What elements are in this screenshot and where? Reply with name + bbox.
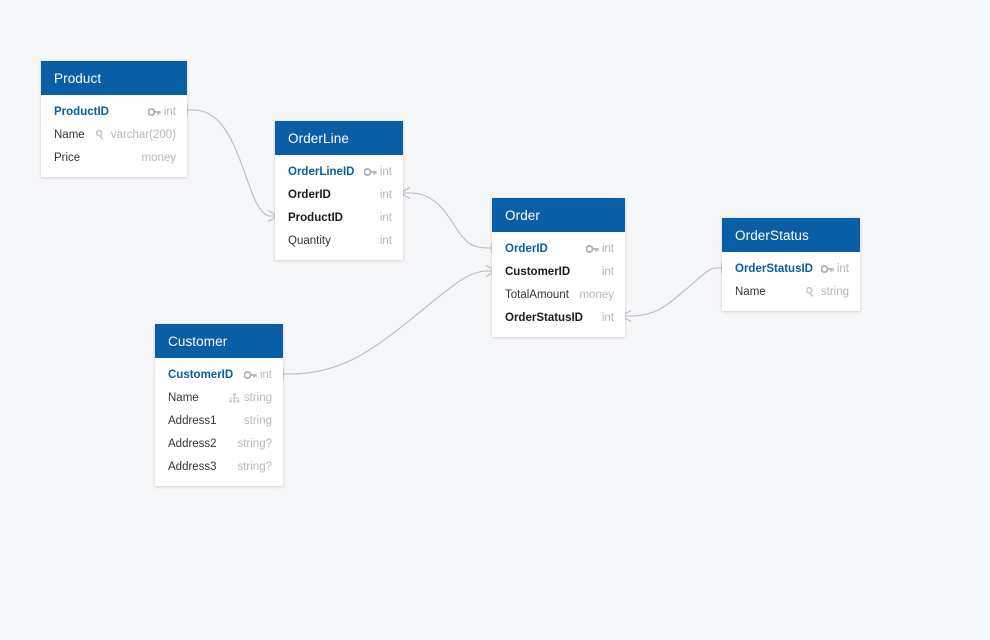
relationship-edge[interactable] [182, 105, 278, 222]
attribute-row[interactable]: Pricemoney [41, 146, 187, 169]
attribute-type: money [579, 289, 614, 301]
erd-canvas[interactable]: ProductProductIDintNamevarchar(200)Price… [0, 0, 990, 640]
index-icon [805, 286, 818, 297]
attribute-row[interactable]: Address3string? [155, 455, 283, 478]
hierarchy-icon [228, 392, 241, 403]
attribute-type: string [821, 286, 849, 298]
key-icon [586, 243, 599, 254]
attribute-row[interactable]: CustomerIDint [155, 363, 283, 386]
attribute-name: Name [735, 286, 766, 298]
attribute-row[interactable]: OrderStatusIDint [722, 257, 860, 280]
attribute-type: string? [237, 438, 272, 450]
attribute-name: Quantity [288, 235, 331, 247]
attribute-row[interactable]: OrderIDint [275, 183, 403, 206]
entity-order[interactable]: OrderOrderIDintCustomerIDintTotalAmountm… [492, 198, 625, 337]
attribute-row[interactable]: Namevarchar(200) [41, 123, 187, 146]
entity-product[interactable]: ProductProductIDintNamevarchar(200)Price… [41, 61, 187, 177]
entity-orderline[interactable]: OrderLineOrderLineIDintOrderIDintProduct… [275, 121, 403, 260]
key-icon [244, 369, 257, 380]
entity-title-orderline[interactable]: OrderLine [275, 121, 403, 155]
index-icon [95, 129, 108, 140]
key-icon [364, 166, 377, 177]
entity-title-product[interactable]: Product [41, 61, 187, 95]
attribute-row[interactable]: Namestring [155, 386, 283, 409]
entity-attributes-orderline: OrderLineIDintOrderIDintProductIDintQuan… [275, 155, 403, 260]
attribute-row[interactable]: CustomerIDint [492, 260, 625, 283]
entity-title-order[interactable]: Order [492, 198, 625, 232]
attribute-type: int [164, 106, 176, 118]
attribute-name: Address1 [168, 415, 217, 427]
entity-attributes-order: OrderIDintCustomerIDintTotalAmountmoneyO… [492, 232, 625, 337]
attribute-type: string [244, 392, 272, 404]
relationship-edge[interactable] [278, 266, 496, 380]
relationship-edge[interactable] [621, 263, 727, 322]
relationship-line [410, 193, 486, 248]
attribute-name: ProductID [54, 106, 109, 118]
attribute-type: int [380, 189, 392, 201]
attribute-row[interactable]: OrderStatusIDint [492, 306, 625, 329]
entity-orderstatus[interactable]: OrderStatusOrderStatusIDintNamestring [722, 218, 860, 311]
attribute-type: int [602, 243, 614, 255]
attribute-row[interactable]: Namestring [722, 280, 860, 303]
attribute-type: varchar(200) [111, 129, 176, 141]
attribute-type: string? [237, 461, 272, 473]
key-icon [148, 106, 161, 117]
attribute-type: int [602, 266, 614, 278]
attribute-type: int [837, 263, 849, 275]
attribute-row[interactable]: OrderIDint [492, 237, 625, 260]
attribute-name: Name [168, 392, 199, 404]
attribute-row[interactable]: ProductIDint [41, 100, 187, 123]
entity-title-customer[interactable]: Customer [155, 324, 283, 358]
attribute-name: OrderID [288, 189, 331, 201]
entity-attributes-customer: CustomerIDintNamestringAddress1stringAdd… [155, 358, 283, 486]
attribute-type: int [380, 166, 392, 178]
attribute-row[interactable]: TotalAmountmoney [492, 283, 625, 306]
attribute-row[interactable]: ProductIDint [275, 206, 403, 229]
entity-customer[interactable]: CustomerCustomerIDintNamestringAddress1s… [155, 324, 283, 486]
attribute-name: OrderStatusID [735, 263, 813, 275]
attribute-name: ProductID [288, 212, 343, 224]
attribute-type: int [380, 235, 392, 247]
attribute-name: OrderStatusID [505, 312, 583, 324]
relationship-line [631, 268, 716, 316]
attribute-type: money [141, 152, 176, 164]
attribute-name: Address2 [168, 438, 217, 450]
entity-attributes-product: ProductIDintNamevarchar(200)Pricemoney [41, 95, 187, 177]
attribute-type: int [260, 369, 272, 381]
attribute-row[interactable]: Quantityint [275, 229, 403, 252]
attribute-name: Address3 [168, 461, 217, 473]
attribute-type: int [602, 312, 614, 324]
attribute-name: CustomerID [505, 266, 570, 278]
attribute-name: CustomerID [168, 369, 233, 381]
attribute-row[interactable]: Address1string [155, 409, 283, 432]
relationship-line [193, 110, 268, 216]
attribute-row[interactable]: OrderLineIDint [275, 160, 403, 183]
attribute-type: int [380, 212, 392, 224]
attribute-name: Price [54, 152, 80, 164]
attribute-name: OrderID [505, 243, 548, 255]
key-icon [821, 263, 834, 274]
attribute-name: OrderLineID [288, 166, 354, 178]
entity-attributes-orderstatus: OrderStatusIDintNamestring [722, 252, 860, 311]
attribute-type: string [244, 415, 272, 427]
entity-title-orderstatus[interactable]: OrderStatus [722, 218, 860, 252]
attribute-row[interactable]: Address2string? [155, 432, 283, 455]
relationship-edge[interactable] [400, 188, 497, 254]
attribute-name: TotalAmount [505, 289, 569, 301]
relationship-line [289, 271, 486, 374]
attribute-name: Name [54, 129, 85, 141]
